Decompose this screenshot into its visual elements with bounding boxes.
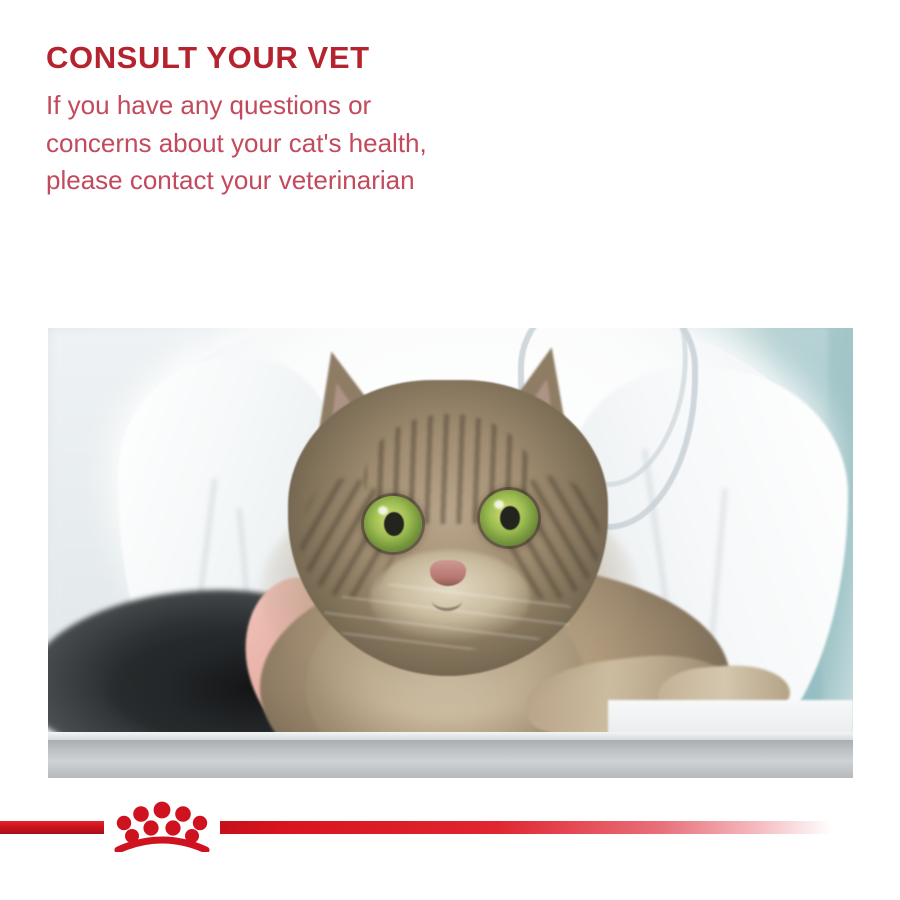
- cat-pupil-right: [500, 506, 520, 530]
- body-line-1: If you have any questions or: [46, 87, 686, 125]
- header-text-block: CONSULT YOUR VET If you have any questio…: [46, 42, 686, 200]
- page-title: CONSULT YOUR VET: [46, 42, 686, 73]
- body-line-2: concerns about your cat's health,: [46, 125, 686, 163]
- cat-eye-glint-left: [378, 506, 388, 515]
- cat-mouth: [432, 590, 462, 611]
- vet-photo: [48, 328, 853, 778]
- cat-pupil-left: [384, 512, 404, 536]
- brand-rule-left: [0, 821, 104, 834]
- exam-table-top-edge: [48, 732, 853, 740]
- vet-photo-scene: [48, 328, 853, 778]
- exam-table-front-edge: [48, 740, 853, 778]
- page-root: CONSULT YOUR VET If you have any questio…: [0, 0, 900, 900]
- royal-canin-crown-icon: [108, 796, 216, 852]
- body-line-3: please contact your veterinarian: [46, 162, 686, 200]
- cat-eye-glint-right: [494, 500, 504, 509]
- brand-rule-right: [220, 821, 832, 834]
